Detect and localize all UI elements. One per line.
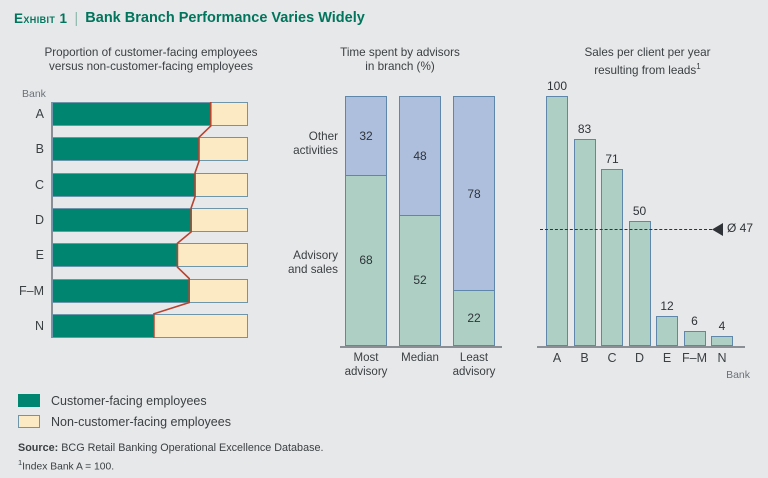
panel3-bar	[684, 331, 706, 346]
panel1-segment-customer-facing	[52, 102, 211, 126]
panel1-segment-customer-facing	[52, 173, 195, 197]
panel1-segment-non-customer-facing	[191, 208, 248, 232]
source-text: BCG Retail Banking Operational Excellenc…	[58, 442, 323, 454]
panel2-title: Time spent by advisors in branch (%)	[300, 46, 500, 74]
panel3-title-line2-wrap: resulting from leads1	[540, 60, 755, 78]
legend-label: Non-customer-facing employees	[51, 415, 231, 429]
panel3-bar	[656, 316, 678, 346]
panel2-value-label-advisory: 68	[346, 253, 386, 267]
panel2-segment-advisory-sales: 52	[399, 216, 441, 346]
panel1-plot-area: ABCDEF–MN	[52, 102, 248, 338]
panel1-row-label: E	[4, 243, 44, 267]
legend-item: Non-customer-facing employees	[18, 411, 358, 432]
panel2-label-advisory-line2: and sales	[246, 263, 338, 277]
legend-swatch-cream	[18, 415, 40, 428]
panel2-category-label: Leastadvisory	[438, 352, 510, 379]
panel3-category-label: N	[705, 351, 739, 365]
panel3-value-label: 71	[595, 152, 629, 166]
panel2-title-line2: in branch (%)	[300, 60, 500, 74]
legend-swatch-green	[18, 394, 40, 407]
panel2-category-label-line: advisory	[330, 366, 402, 380]
source-line: Source: BCG Retail Banking Operational E…	[18, 441, 518, 456]
panel1-bar-row: D	[52, 208, 248, 232]
panel3-title-line1: Sales per client per year	[540, 46, 755, 60]
panel3-title-line2: resulting from leads	[594, 64, 696, 77]
panel1-segment-non-customer-facing	[177, 243, 248, 267]
panel2-label-advisory-sales: Advisory and sales	[246, 249, 338, 277]
panel2-value-label-other: 32	[346, 129, 386, 143]
panel1-row-label: C	[4, 173, 44, 197]
panel2-segment-advisory-sales: 22	[453, 291, 495, 346]
panel2-stacked-column: 4852	[399, 96, 441, 346]
panel2-category-label-line: Least	[438, 352, 510, 366]
panel1-segment-customer-facing	[52, 208, 191, 232]
panel1-bar-row: C	[52, 173, 248, 197]
legend-item: Customer-facing employees	[18, 390, 358, 411]
source-label: Source:	[18, 442, 58, 454]
panel2-stacked-column: 7822	[453, 96, 495, 346]
panel3-average-marker-icon	[712, 223, 724, 237]
panel1-row-label: B	[4, 137, 44, 161]
panel1-title-line2: versus non-customer-facing employees	[18, 60, 284, 74]
exhibit-title-bar: Exhibit 1 | Bank Branch Performance Vari…	[14, 6, 756, 30]
panel3-bar	[546, 96, 568, 346]
panel3-bar	[629, 221, 651, 346]
panel2-label-other-line1: Other	[246, 130, 338, 144]
panel3-title-superscript: 1	[696, 62, 700, 71]
panel3-axis-name: Bank	[726, 369, 750, 381]
panel1-row-label: A	[4, 102, 44, 126]
panel1-segment-non-customer-facing	[189, 279, 248, 303]
exhibit-title: Bank Branch Performance Varies Widely	[85, 10, 365, 26]
panel3-baseline-axis	[537, 346, 745, 348]
panel3-bar	[574, 139, 596, 347]
panel1-segment-non-customer-facing	[211, 102, 248, 126]
panel3-average-label: Ø 47	[727, 221, 753, 235]
panel1-segment-non-customer-facing	[154, 314, 248, 338]
panel1-bar-row: F–M	[52, 279, 248, 303]
panel2-value-label-other: 48	[400, 149, 440, 163]
panel3-value-label: 50	[623, 204, 657, 218]
panel2-category-label-line: advisory	[438, 366, 510, 380]
title-divider: |	[74, 10, 78, 27]
panel1-segment-non-customer-facing	[199, 137, 248, 161]
panel2-segment-other-activities: 48	[399, 96, 441, 216]
panel1-title-line1: Proportion of customer-facing employees	[18, 46, 284, 60]
panel1-segment-customer-facing	[52, 243, 177, 267]
exhibit-number: Exhibit 1	[14, 11, 67, 26]
panel1-bar-row: A	[52, 102, 248, 126]
panel2-segment-other-activities: 32	[345, 96, 387, 176]
panel3-bar	[601, 169, 623, 347]
panel1-segment-customer-facing	[52, 314, 154, 338]
panel1-bar-row: E	[52, 243, 248, 267]
footnote-line: 1Index Bank A = 100.	[18, 456, 518, 474]
panel3-average-reference-line	[540, 229, 712, 230]
panel2-baseline-axis	[340, 346, 502, 348]
panel2-label-advisory-line1: Advisory	[246, 249, 338, 263]
panel2-title-line1: Time spent by advisors	[300, 46, 500, 60]
panel3-title: Sales per client per year resulting from…	[540, 46, 755, 78]
panel3-value-label: 100	[540, 79, 574, 93]
panel1-title: Proportion of customer-facing employees …	[18, 46, 284, 74]
panel1-segment-non-customer-facing	[195, 173, 248, 197]
panel3-value-label: 12	[650, 299, 684, 313]
panel2-label-other-activities: Other activities	[246, 130, 338, 158]
panel1-bar-row: N	[52, 314, 248, 338]
legend: Customer-facing employeesNon-customer-fa…	[18, 390, 358, 432]
panel1-segment-customer-facing	[52, 137, 199, 161]
panel2-value-label-advisory: 22	[454, 311, 494, 325]
footer: Source: BCG Retail Banking Operational E…	[18, 441, 518, 474]
panel1-axis-name: Bank	[22, 88, 46, 100]
panel2-value-label-other: 78	[454, 187, 494, 201]
panel1-segment-customer-facing	[52, 279, 189, 303]
panel1-row-label: N	[4, 314, 44, 338]
panel2-plot-area: 326848527822	[345, 96, 495, 346]
legend-label: Customer-facing employees	[51, 394, 207, 408]
panel3-value-label: 4	[705, 319, 739, 333]
panel2-segment-other-activities: 78	[453, 96, 495, 291]
panel2-segment-advisory-sales: 68	[345, 176, 387, 346]
panel3-value-label: 83	[568, 122, 602, 136]
panel2-stacked-column: 3268	[345, 96, 387, 346]
panel2-label-other-line2: activities	[246, 144, 338, 158]
panel1-bar-row: B	[52, 137, 248, 161]
exhibit-container: Exhibit 1 | Bank Branch Performance Vari…	[0, 0, 768, 478]
panel1-row-label: F–M	[4, 279, 44, 303]
footnote-text: Index Bank A = 100.	[22, 461, 114, 472]
panel2-value-label-advisory: 52	[400, 273, 440, 287]
panel3-bar	[711, 336, 733, 346]
panel1-row-label: D	[4, 208, 44, 232]
